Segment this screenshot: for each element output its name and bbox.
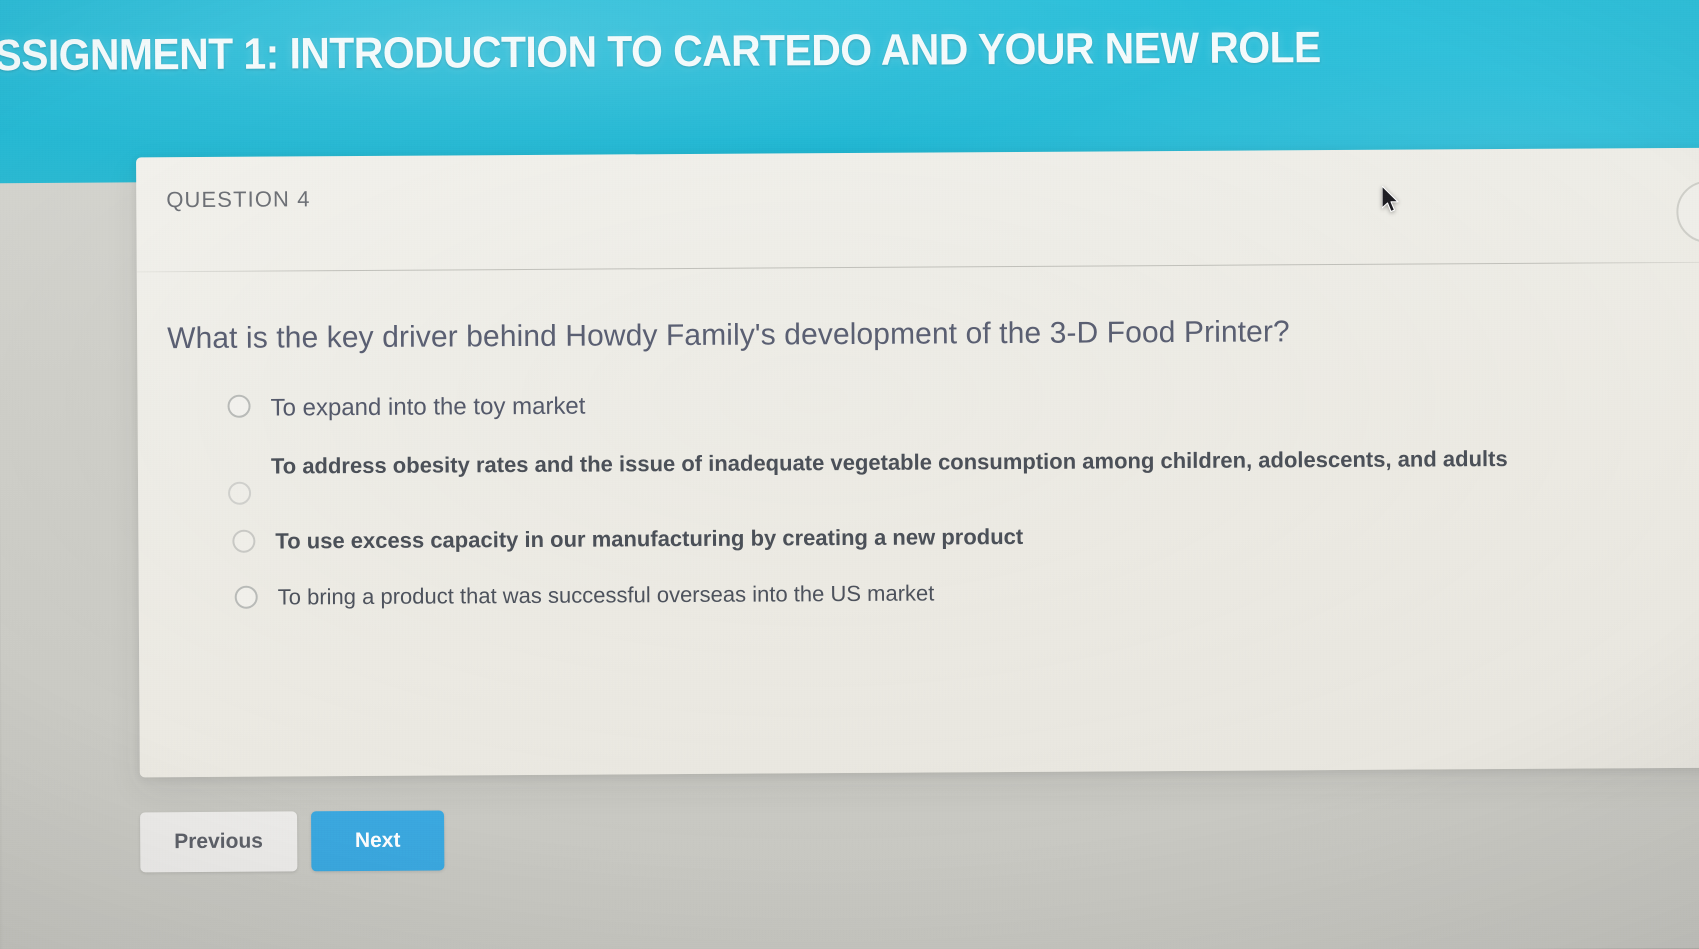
answer-options-list: To expand into the toy market To address… <box>167 383 1699 613</box>
answer-option-3[interactable]: To use excess capacity in our manufactur… <box>200 517 1699 557</box>
radio-button-icon[interactable] <box>235 585 258 608</box>
mouse-cursor-icon <box>1382 186 1402 216</box>
answer-option-2[interactable]: To address obesity rates and the issue o… <box>200 442 1699 504</box>
radio-button-icon[interactable] <box>228 481 251 504</box>
answer-option-label: To expand into the toy market <box>270 390 585 425</box>
question-card-body: What is the key driver behind Howdy Fami… <box>137 263 1699 640</box>
question-number-label: QUESTION 4 <box>166 186 310 213</box>
radio-button-icon[interactable] <box>227 395 250 418</box>
answer-option-4[interactable]: To bring a product that was successful o… <box>201 574 1699 614</box>
answer-option-label: To bring a product that was successful o… <box>278 578 935 612</box>
answer-option-1[interactable]: To expand into the toy market <box>199 383 1699 425</box>
screen-photo: ASSIGNMENT 1: INTRODUCTION TO CARTEDO AN… <box>0 0 1699 949</box>
question-card-header: QUESTION 4 <box>136 148 1699 273</box>
previous-button[interactable]: Previous <box>140 811 297 872</box>
answer-option-label: To use excess capacity in our manufactur… <box>275 521 1023 556</box>
next-button[interactable]: Next <box>311 810 445 871</box>
screen-content: ASSIGNMENT 1: INTRODUCTION TO CARTEDO AN… <box>0 0 1699 949</box>
radio-button-icon[interactable] <box>232 529 255 552</box>
navigation-footer: Previous Next <box>140 810 445 872</box>
answer-option-label: To address obesity rates and the issue o… <box>271 443 1508 481</box>
question-card: QUESTION 4 What is the key driver behind… <box>136 148 1699 778</box>
question-prompt: What is the key driver behind Howdy Fami… <box>167 311 1699 359</box>
